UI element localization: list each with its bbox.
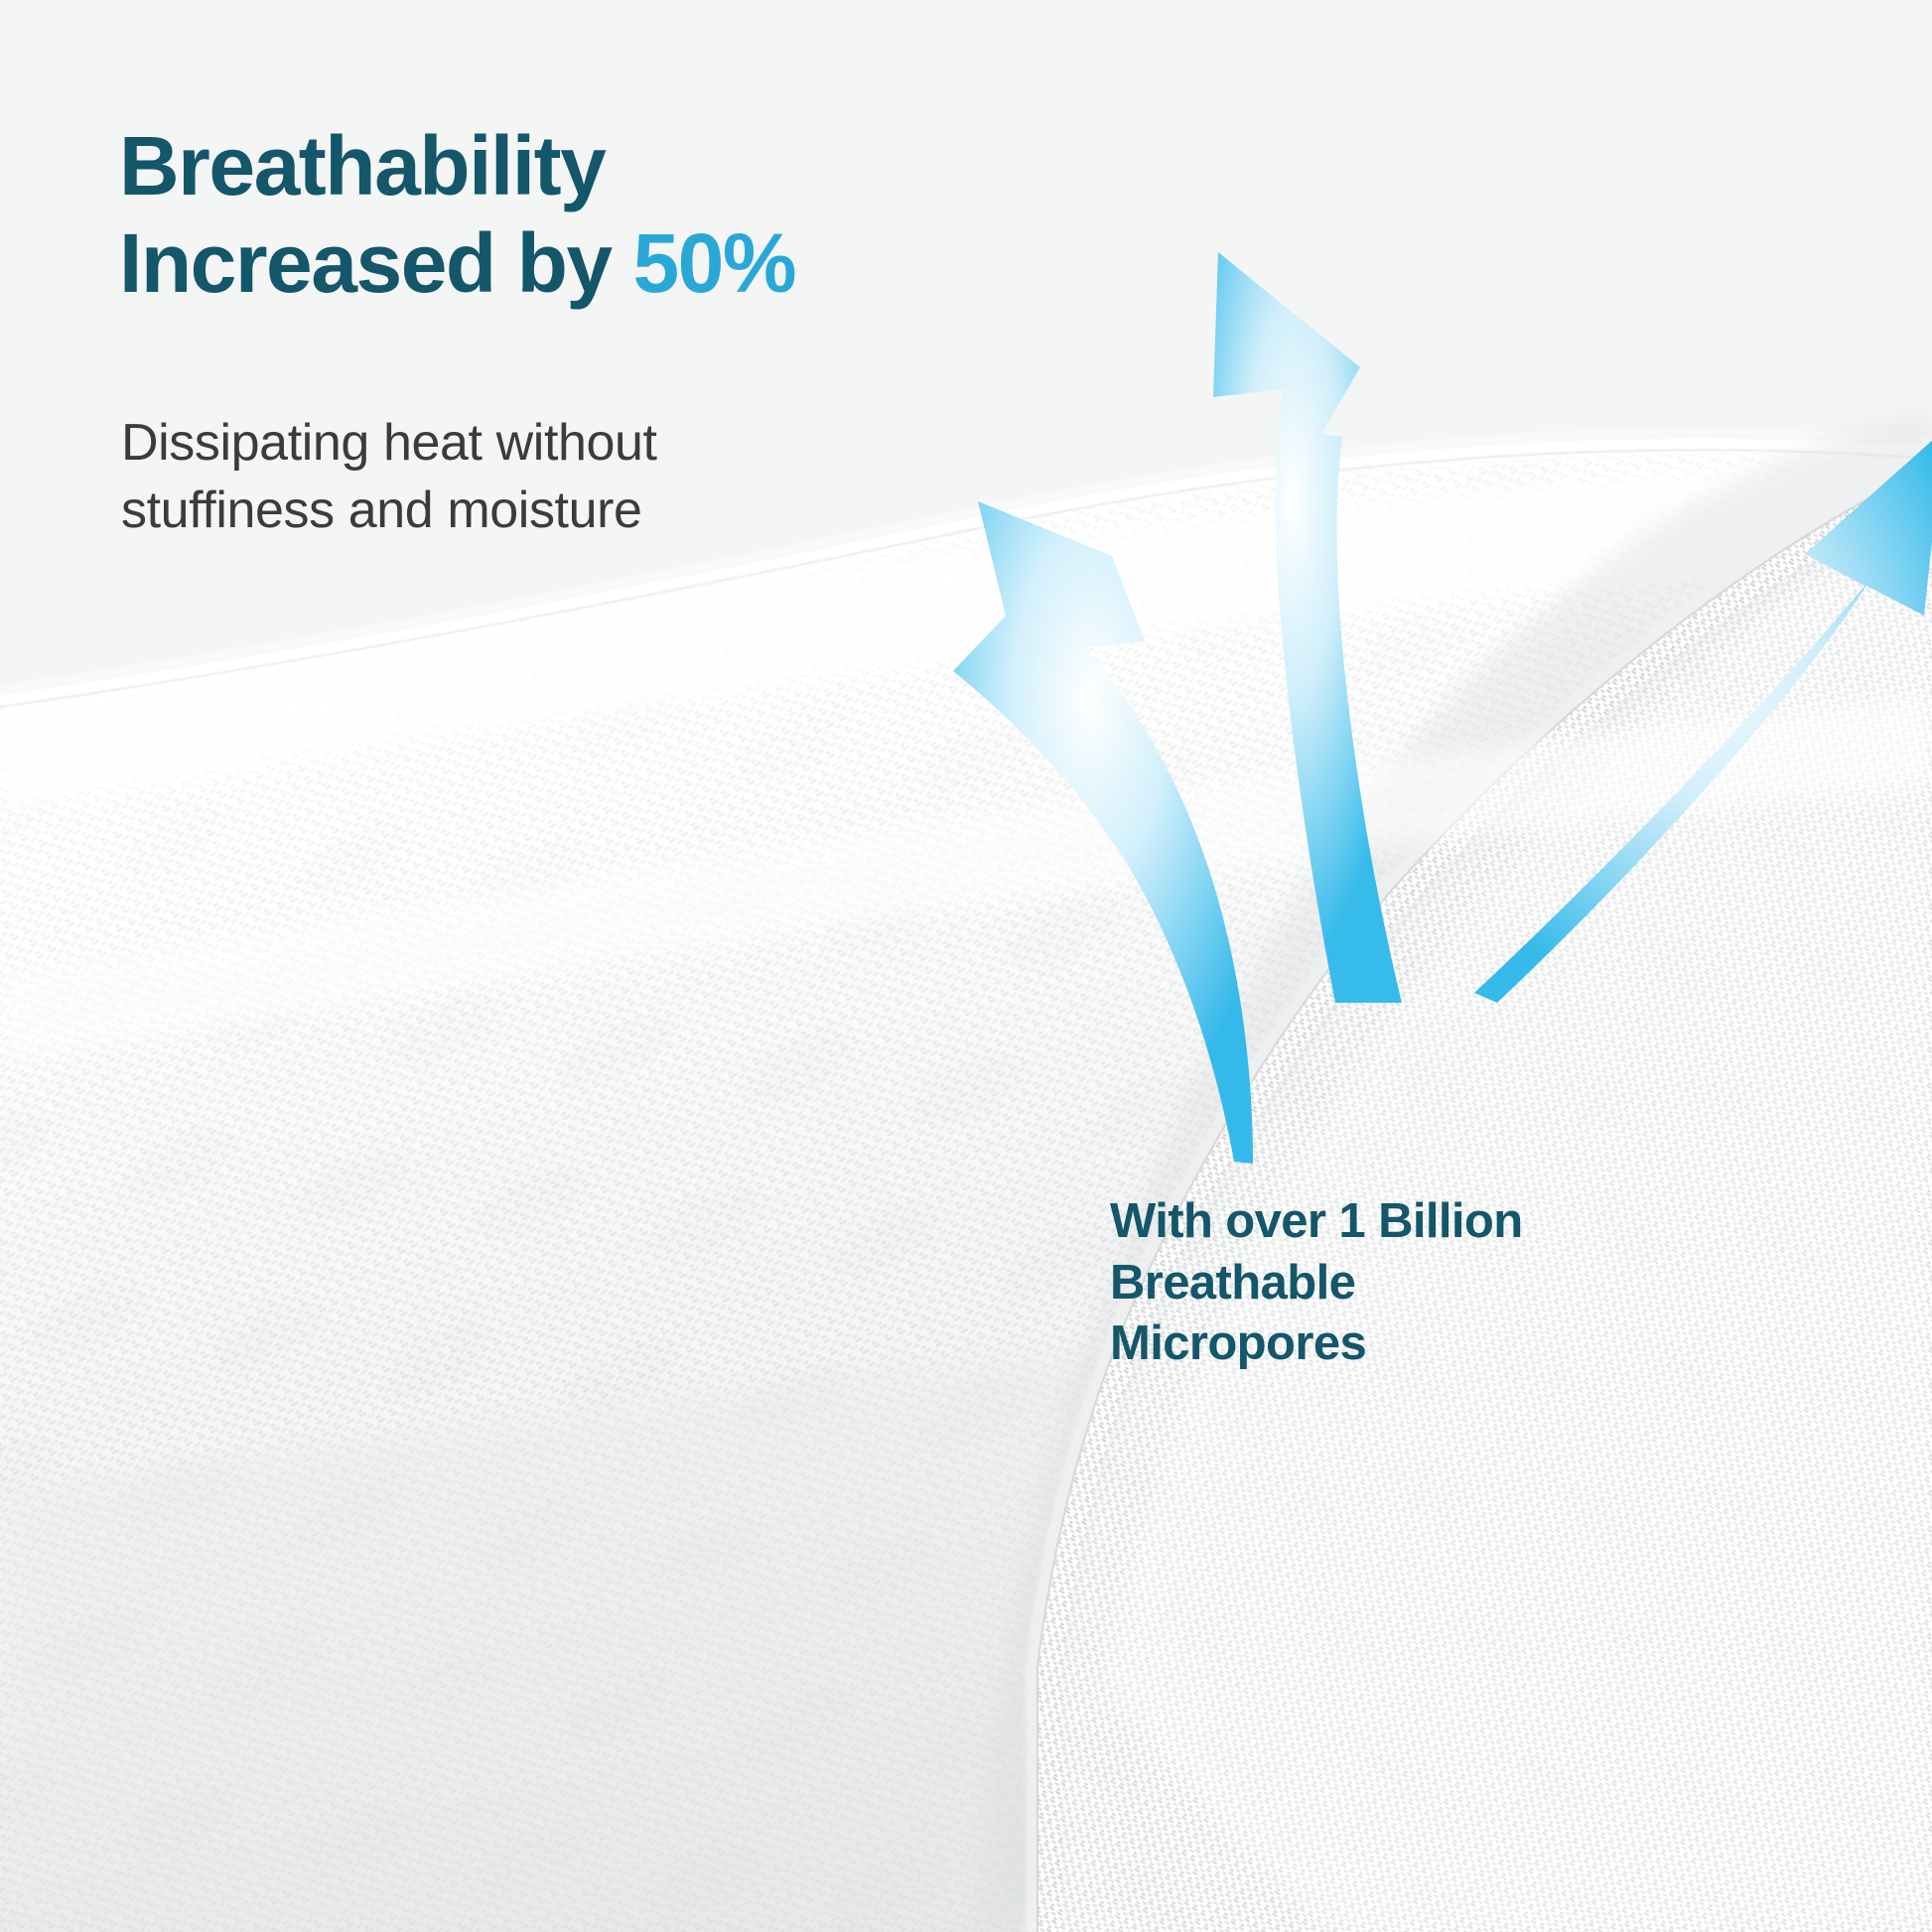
- callout-line-3: Micropores: [1110, 1313, 1523, 1375]
- marketing-image: Breathability Increased by 50% Dissipati…: [0, 0, 1932, 1932]
- subtitle-line-2: stuffiness and moisture: [121, 478, 657, 545]
- headline-line-2-prefix: Increased by: [119, 216, 632, 310]
- headline-percent-accent: 50%: [632, 216, 795, 310]
- headline: Breathability Increased by 50%: [119, 117, 795, 313]
- micropores-callout: With over 1 Billion Breathable Micropore…: [1110, 1191, 1523, 1375]
- callout-line-1: With over 1 Billion: [1110, 1191, 1523, 1253]
- headline-line-2: Increased by 50%: [119, 214, 795, 312]
- headline-line-1: Breathability: [119, 117, 795, 214]
- subtitle-line-1: Dissipating heat without: [121, 410, 657, 478]
- subtitle: Dissipating heat without stuffiness and …: [121, 410, 657, 544]
- callout-line-2: Breathable: [1110, 1253, 1523, 1314]
- headline-line-1-text: Breathability: [119, 119, 605, 212]
